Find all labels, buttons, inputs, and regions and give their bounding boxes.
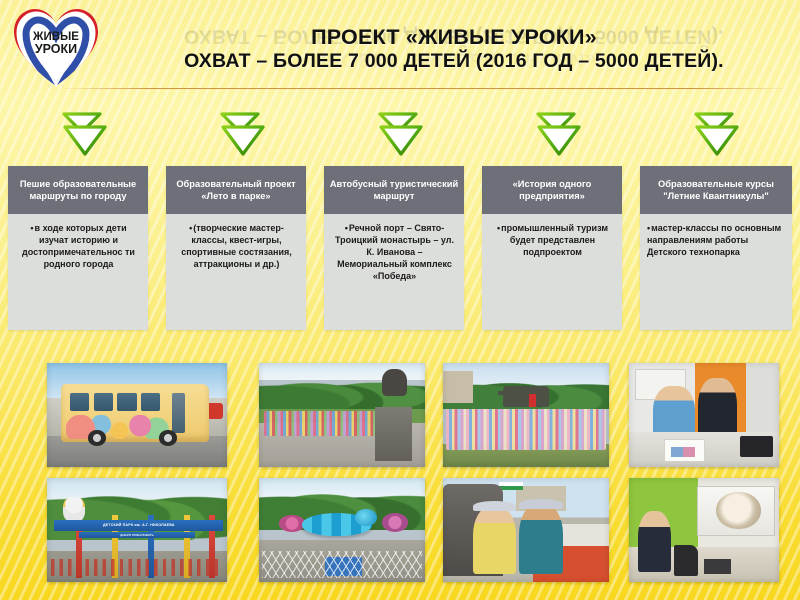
card-body-text: мастер-классы по основным направлениям р…: [647, 222, 786, 258]
chevron-down-marker-3: [372, 108, 430, 160]
card-header-text: «История одного предприятия»: [487, 178, 617, 202]
card-body-text: в ходе которых дети изучат историю и дос…: [15, 222, 142, 270]
chevron-down-marker-2: [214, 108, 272, 160]
card-body: (творческие мастер-классы, квест-игры, с…: [166, 214, 306, 330]
zhivye-uroki-logo: ЖИВЫЕ УРОКИ: [8, 4, 104, 90]
photo-group-at-tank: [443, 363, 609, 467]
card-bus-tour-route[interactable]: Автобусный туристический маршрут Речной …: [324, 166, 464, 330]
slide-canvas: ЖИВЫЕ УРОКИ ПРОЕКТ «ЖИВЫЕ УРОКИ» ОХВАТ –…: [0, 0, 800, 600]
slide-header: ЖИВЫЕ УРОКИ ПРОЕКТ «ЖИВЫЕ УРОКИ» ОХВАТ –…: [0, 0, 800, 96]
photo-carousel: [259, 478, 425, 582]
card-body: Речной порт – Свято-Троицкий монастырь –…: [324, 214, 464, 330]
card-body: мастер-классы по основным направлениям р…: [640, 214, 792, 330]
card-body-text: промышленный туризм будет представлен по…: [489, 222, 616, 258]
card-header: Пешие образовательные маршруты по городу: [8, 166, 148, 214]
card-header: Автобусный туристический маршрут: [324, 166, 464, 214]
card-summer-in-park[interactable]: Образовательный проект «Лето в парке» (т…: [166, 166, 306, 330]
photo-technopark-desk: [629, 363, 779, 467]
card-body-text: Речной порт – Свято-Троицкий монастырь –…: [331, 222, 458, 282]
card-body-text: (творческие мастер-классы, квест-игры, с…: [173, 222, 300, 270]
card-header-text: Пешие образовательные маршруты по городу: [13, 178, 143, 202]
card-header: «История одного предприятия»: [482, 166, 622, 214]
park-sign-text-line-1: ДЕТСКИЙ ПАРК им. А.Г. НИКОЛАЕВА: [103, 523, 175, 527]
park-sign-text-line-2: ДОБРО ПОЖАЛОВАТЬ: [120, 533, 154, 537]
chevron-down-marker-1: [56, 108, 114, 160]
card-summer-kvantnikuly[interactable]: Образовательные курсы "Летние Квантникул…: [640, 166, 792, 330]
card-history-of-enterprise[interactable]: «История одного предприятия» промышленны…: [482, 166, 622, 330]
card-header-text: Образовательные курсы "Летние Квантникул…: [645, 178, 787, 202]
title-divider: [64, 88, 784, 89]
chevron-down-marker-5: [688, 108, 746, 160]
photo-park-gate: ДЕТСКИЙ ПАРК им. А.Г. НИКОЛАЕВА ДОБРО ПО…: [47, 478, 227, 582]
photo-microscope-lab: [629, 478, 779, 582]
card-header-text: Образовательный проект «Лето в парке»: [171, 178, 301, 202]
chevron-down-marker-4: [530, 108, 588, 160]
photo-kids-in-vehicle: [443, 478, 609, 582]
card-header-text: Автобусный туристический маршрут: [329, 178, 459, 202]
photo-group-at-monument: [259, 363, 425, 467]
page-title-line-1: ПРОЕКТ «ЖИВЫЕ УРОКИ»: [112, 26, 796, 49]
card-body: в ходе которых дети изучат историю и дос…: [8, 214, 148, 330]
page-title-line-2: ОХВАТ – БОЛЕЕ 7 000 ДЕТЕЙ (2016 ГОД – 50…: [112, 51, 796, 72]
photo-painted-bus: [47, 363, 227, 467]
card-walking-routes[interactable]: Пешие образовательные маршруты по городу…: [8, 166, 148, 330]
page-title: ПРОЕКТ «ЖИВЫЕ УРОКИ» ОХВАТ – БОЛЕЕ 7 000…: [112, 26, 796, 71]
card-header: Образовательные курсы "Летние Квантникул…: [640, 166, 792, 214]
card-body: промышленный туризм будет представлен по…: [482, 214, 622, 330]
logo-text-line-2: УРОКИ: [35, 42, 77, 56]
card-header: Образовательный проект «Лето в парке»: [166, 166, 306, 214]
